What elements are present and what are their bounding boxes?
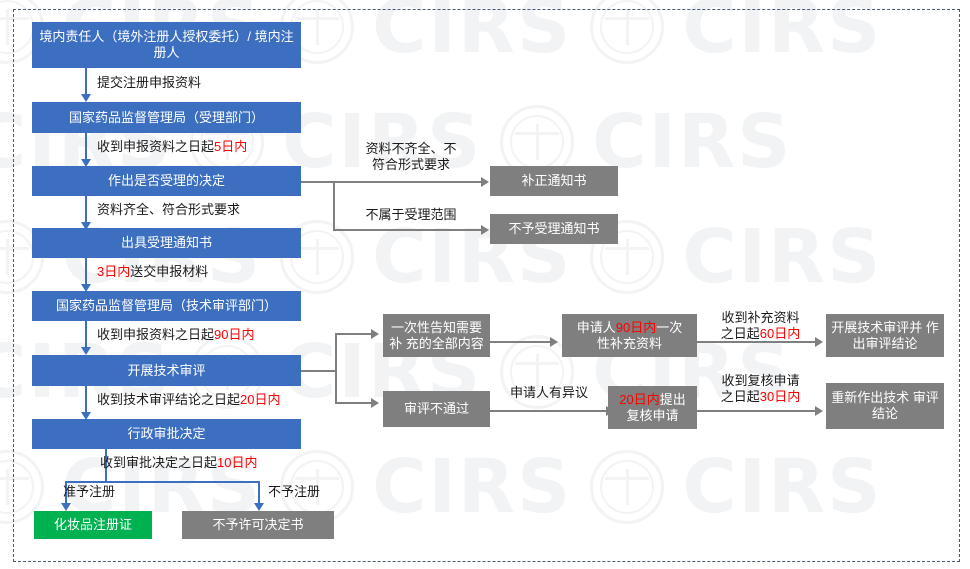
node-applicant[interactable]: 境内责任人（境外注册人授权委托）/ 境内注册人 [32,22,301,68]
node-review-failed[interactable]: 审评不通过 [383,391,490,427]
connector-review-branch-stem [301,370,337,372]
node-reexamination-request-text: 20日内提出复核申请 [619,392,685,424]
node-applicant-supplement-materials[interactable]: 申请人90日内一次性补充资料 [562,314,697,357]
connector-decision-to-issue [85,196,87,224]
arrow-review-to-onetime [371,329,379,339]
connector-onetime-to-supplement [490,341,552,343]
node-nmpa-technical-review-department[interactable]: 国家药品监督管理局（技术审评部门） [32,291,301,321]
edge-label-within-90-days: 收到申报资料之日起90日内 [97,327,254,343]
node-administrative-approval-decision[interactable]: 行政审批决定 [32,419,301,449]
edge-label-out-of-scope: 不属于受理范围 [341,207,481,223]
edge-label-within-10-days: 收到审批决定之日起10日内 [100,455,257,471]
arrow-admin-to-rejected [254,503,264,511]
arrow-review-to-failed [371,398,379,408]
connector-applicant-to-nmpa [85,68,87,96]
arrow-decision-to-correction [481,177,489,187]
edge-label-within-5-days: 收到申报资料之日起5日内 [97,139,247,155]
arrow-admin-to-approved [61,503,71,511]
arrow-review-dept-to-start [81,347,91,355]
connector-start-to-admin [85,386,87,414]
edge-label-applicant-objection: 申请人有异议 [489,385,609,401]
edge-label-within-3-days: 3日内送交申报材料 [97,264,208,280]
node-non-acceptance-notice[interactable]: 不予受理通知书 [490,214,618,244]
connector-review-branch-riser [335,333,337,404]
edge-label-within-60-days: 收到补充资料之日起60日内 [703,310,818,342]
edge-label-within-30-days: 收到复核申请之日起30日内 [703,373,818,405]
edge-label-complete-compliant: 资料齐全、符合形式要求 [97,202,240,218]
node-correction-notice[interactable]: 补正通知书 [490,166,618,196]
arrow-decision-to-reject [481,225,489,235]
node-issue-acceptance-notice[interactable]: 出具受理通知书 [32,228,301,258]
node-nmpa-accepting-department[interactable]: 国家药品监督管理局（受理部门） [32,102,301,133]
connector-reexam-to-conclusion [697,410,817,412]
node-cosmetic-registration-certificate[interactable]: 化妆品注册证 [34,511,152,539]
node-start-technical-review[interactable]: 开展技术审评 [32,355,301,386]
connector-decision-to-reject [333,229,483,231]
edge-label-incomplete-materials: 资料不齐全、不 符合形式要求 [341,141,481,173]
connector-review-to-failed [335,402,373,404]
connector-decision-branch-riser [333,181,335,231]
connector-issue-to-review-dept [85,258,87,286]
arrow-onetime-to-supplement [550,337,558,347]
diagram-frame [13,9,960,562]
node-acceptance-decision[interactable]: 作出是否受理的决定 [32,166,301,196]
node-one-time-supplement-notice[interactable]: 一次性告知需要补 充的全部内容 [383,314,490,357]
edge-label-not-approved: 不予注册 [268,484,320,500]
edge-label-submit-materials: 提交注册申报资料 [97,75,201,91]
connector-review-dept-to-start [85,321,87,349]
edge-label-within-20-days: 收到技术审评结论之日起20日内 [97,392,280,408]
arrow-reexam-to-conclusion [815,406,823,416]
arrow-applicant-to-nmpa [81,94,91,102]
connector-nmpa-to-decision [85,133,87,161]
connector-decision-branch-stem [301,181,335,183]
node-reexamination-request[interactable]: 20日内提出复核申请 [608,386,697,429]
node-new-technical-review-conclusion[interactable]: 重新作出技术 审评结论 [826,383,944,429]
node-review-and-conclusion[interactable]: 开展技术审评并 作出审评结论 [826,314,944,357]
edge-label-approved: 准予注册 [63,484,115,500]
connector-review-to-onetime [335,333,373,335]
node-rejection-decision[interactable]: 不予许可决定书 [182,511,334,539]
diagram-canvas: CIRS CIRS CIRS CIRS CIRS CIRS CIRS CIRS … [0,0,970,569]
connector-admin-split-bar [65,481,260,483]
connector-decision-to-correction [333,181,483,183]
connector-admin-to-rejected [258,481,260,505]
node-applicant-supplement-materials-text: 申请人90日内一次性补充资料 [577,320,683,352]
connector-failed-to-reexam [490,410,608,412]
